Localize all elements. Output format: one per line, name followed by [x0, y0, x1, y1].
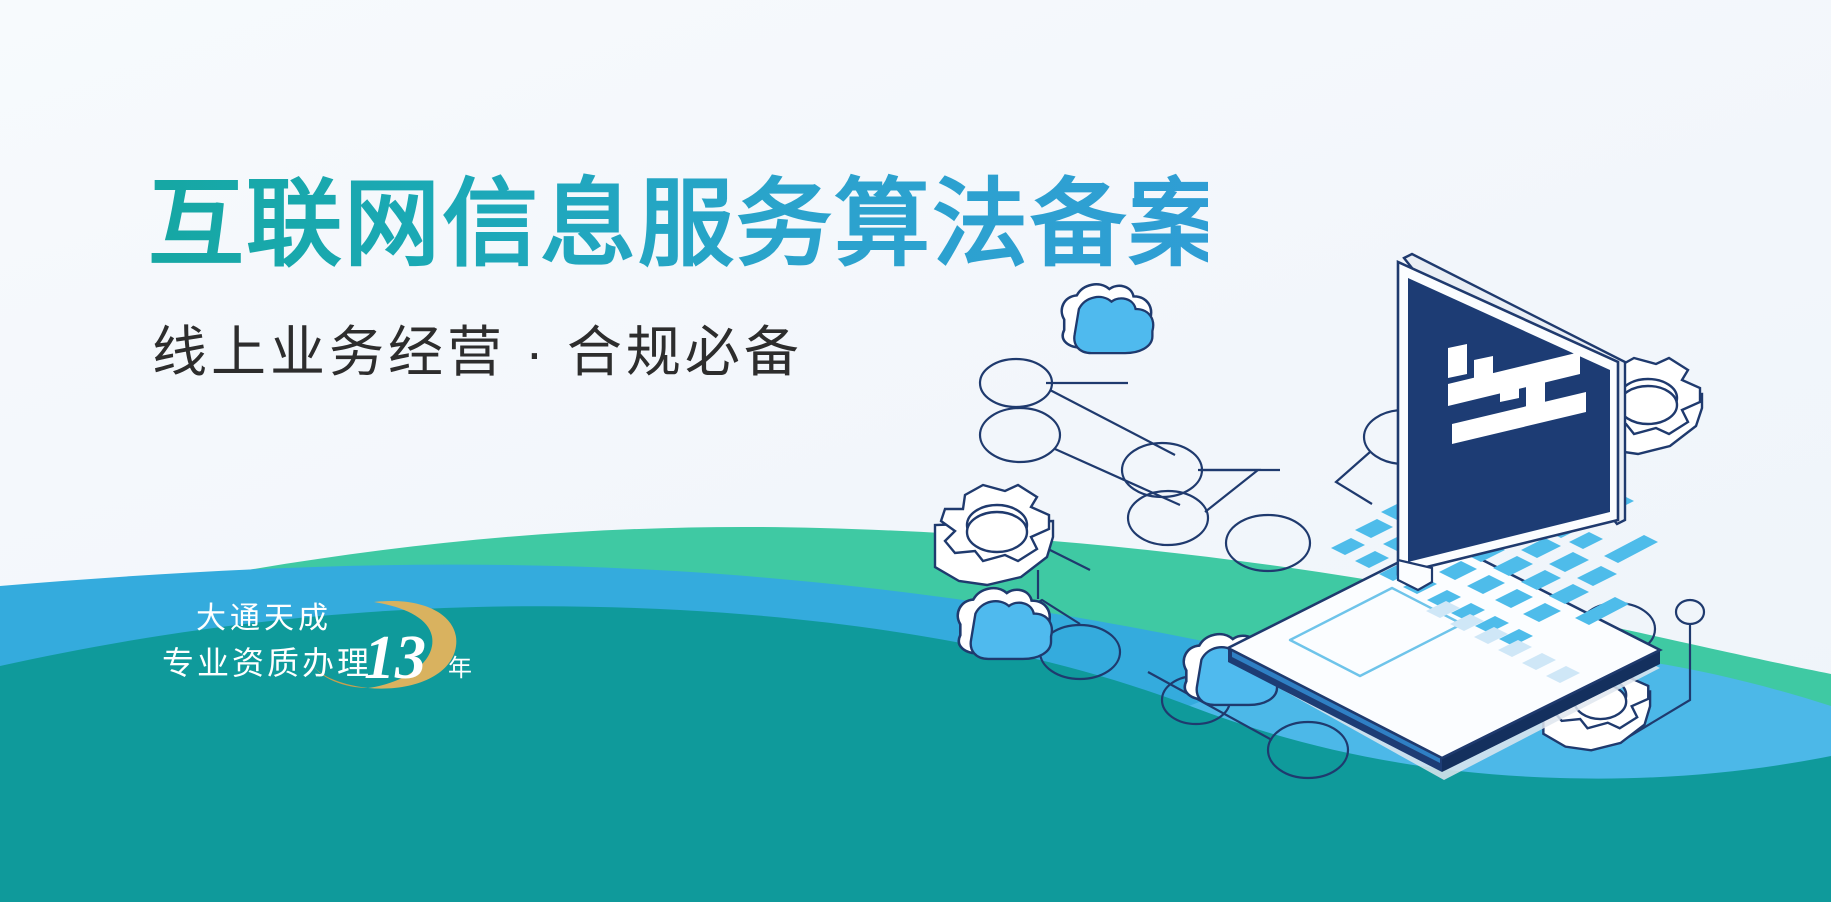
company-logo: 大通天成 专业资质办理 13 年	[160, 588, 490, 698]
gear-icon	[935, 485, 1053, 585]
logo-years-number: 13	[364, 624, 426, 692]
banner-root: 互联网信息服务算法备案 线上业务经营 · 合规必备	[0, 0, 1831, 902]
node-circle	[1676, 600, 1704, 624]
page-subtitle: 线上业务经营 · 合规必备	[152, 307, 1208, 387]
node-circle	[1226, 515, 1310, 571]
logo-tagline: 专业资质办理	[162, 645, 372, 681]
laptop	[1228, 254, 1660, 780]
logo-brand-name: 大通天成	[196, 602, 332, 635]
illustration-isometric-laptop	[0, 0, 1831, 902]
logo-years-unit: 年	[448, 655, 472, 682]
headline-block: 互联网信息服务算法备案 线上业务经营 · 合规必备	[148, 168, 1208, 387]
node-circle	[1122, 443, 1202, 497]
node-circle	[980, 408, 1060, 462]
page-title: 互联网信息服务算法备案	[148, 168, 1208, 281]
node-circle	[1268, 722, 1348, 778]
